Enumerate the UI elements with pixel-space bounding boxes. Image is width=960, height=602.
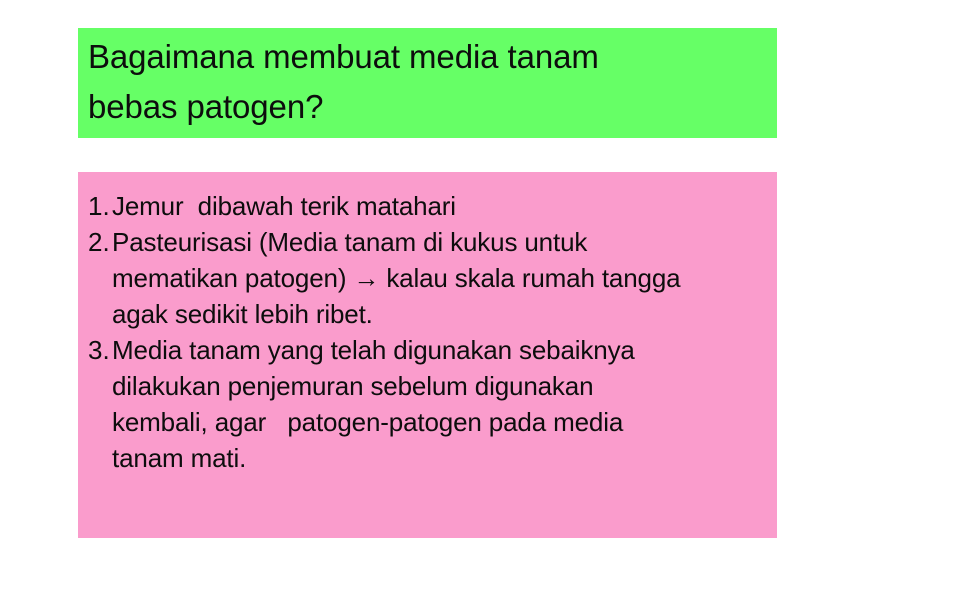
list-item-line: Pasteurisasi (Media tanam di kukus untuk — [112, 224, 777, 260]
list-item-line: agak sedikit lebih ribet. — [112, 296, 777, 332]
list-item-line: Jemur dibawah terik matahari — [112, 188, 777, 224]
list-item-marker: 3. — [88, 332, 112, 368]
title-box: Bagaimana membuat media tanam bebas pato… — [78, 28, 777, 138]
list-item-line: dilakukan penjemuran sebelum digunakan — [112, 368, 777, 404]
list-item-body: Jemur dibawah terik matahari — [112, 188, 777, 224]
list-item: 1. Jemur dibawah terik matahari — [88, 188, 777, 224]
title-line-1: Bagaimana membuat media tanam — [88, 32, 777, 82]
list-item-line: mematikan patogen) → kalau skala rumah t… — [112, 260, 777, 296]
list-item-line: Media tanam yang telah digunakan sebaikn… — [112, 332, 777, 368]
content-box: 1. Jemur dibawah terik matahari 2. Paste… — [78, 172, 777, 538]
list-item: 3. Media tanam yang telah digunakan seba… — [88, 332, 777, 476]
list-item-line: tanam mati. — [112, 440, 777, 476]
numbered-list: 1. Jemur dibawah terik matahari 2. Paste… — [88, 188, 777, 476]
title-line-2: bebas patogen? — [88, 82, 777, 132]
list-item-line: kembali, agar patogen-patogen pada media — [112, 404, 777, 440]
slide-canvas: Bagaimana membuat media tanam bebas pato… — [0, 0, 960, 602]
list-item-marker: 1. — [88, 188, 112, 224]
list-item: 2. Pasteurisasi (Media tanam di kukus un… — [88, 224, 777, 332]
list-item-body: Pasteurisasi (Media tanam di kukus untuk… — [112, 224, 777, 332]
list-item-marker: 2. — [88, 224, 112, 260]
list-item-body: Media tanam yang telah digunakan sebaikn… — [112, 332, 777, 476]
